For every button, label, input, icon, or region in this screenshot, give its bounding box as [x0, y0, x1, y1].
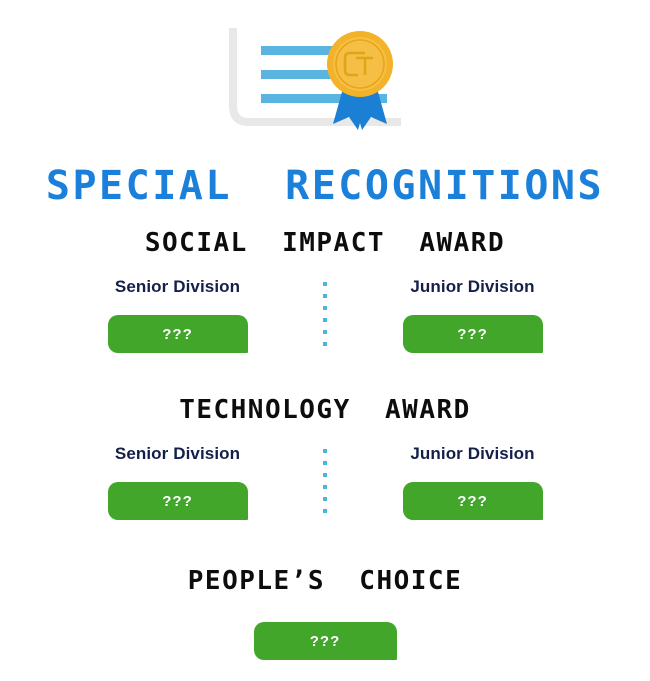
division-label-senior: Senior Division — [115, 445, 240, 462]
division-label-junior: Junior Division — [410, 445, 534, 462]
section-title-technology-award: TECHNOLOGY AWARD — [179, 397, 471, 423]
division-column-senior: Senior Division ??? — [45, 445, 310, 520]
section-title-peoples-choice: PEOPLE’S CHOICE — [188, 568, 462, 594]
dotted-line-icon — [323, 282, 327, 353]
division-column-senior: Senior Division ??? — [45, 278, 310, 353]
winner-button-peoples-choice[interactable]: ??? — [254, 622, 397, 660]
divisions-social-impact-award: Senior Division ??? Junior Division ??? — [45, 278, 605, 353]
winner-button-social-senior[interactable]: ??? — [108, 315, 248, 353]
division-column-junior: Junior Division ??? — [340, 445, 605, 520]
medal-inner-icon — [333, 37, 387, 91]
column-divider — [310, 445, 340, 520]
section-title-social-impact-award: SOCIAL IMPACT AWARD — [145, 230, 505, 256]
divisions-technology-award: Senior Division ??? Junior Division ??? — [45, 445, 605, 520]
page-title: SPECIAL RECOGNITIONS — [46, 166, 604, 206]
certificate-award-icon — [225, 22, 425, 140]
column-divider — [310, 278, 340, 353]
section-social-impact-award: SOCIAL IMPACT AWARD Senior Division ??? … — [0, 230, 650, 353]
section-technology-award: TECHNOLOGY AWARD Senior Division ??? Jun… — [0, 397, 650, 520]
winner-button-technology-junior[interactable]: ??? — [403, 482, 543, 520]
winner-button-technology-senior[interactable]: ??? — [108, 482, 248, 520]
winner-button-social-junior[interactable]: ??? — [403, 315, 543, 353]
section-peoples-choice: PEOPLE’S CHOICE ??? — [0, 568, 650, 660]
division-label-junior: Junior Division — [410, 278, 534, 295]
special-recognitions-page: SPECIAL RECOGNITIONS SOCIAL IMPACT AWARD… — [0, 0, 650, 681]
dotted-line-icon — [323, 449, 327, 520]
division-column-junior: Junior Division ??? — [340, 278, 605, 353]
division-label-senior: Senior Division — [115, 278, 240, 295]
